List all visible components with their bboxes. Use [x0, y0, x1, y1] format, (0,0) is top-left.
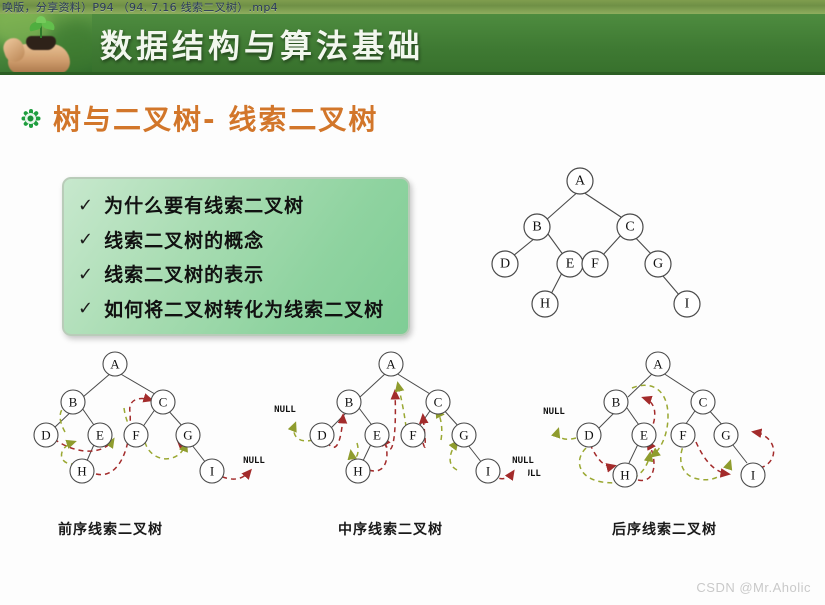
- svg-text:C: C: [699, 395, 708, 410]
- svg-text:F: F: [409, 428, 416, 443]
- list-item: ✓ 线索二叉树的概念: [78, 226, 394, 253]
- svg-text:H: H: [77, 464, 86, 479]
- page-title: 数据结构与算法基础: [100, 21, 424, 67]
- svg-text:C: C: [625, 220, 634, 235]
- list-item-label: 线索二叉树的概念: [104, 226, 264, 253]
- svg-text:D: D: [317, 428, 326, 443]
- slide-header-banner: 数据结构与算法基础: [0, 14, 825, 75]
- list-item: ✓ 如何将二叉树转化为线索二叉树: [78, 295, 394, 322]
- svg-text:E: E: [96, 428, 104, 443]
- svg-text:D: D: [41, 428, 50, 443]
- watermark: CSDN @Mr.Aholic: [696, 580, 811, 595]
- svg-text:C: C: [159, 395, 168, 410]
- list-item: ✓ 为什么要有线索二叉树: [78, 191, 394, 218]
- slide-canvas: 数据结构与算法基础 树与二叉树- 线索二叉树 ✓ 为什么要有线索二叉树 ✓ 线索…: [0, 14, 825, 605]
- svg-text:NULL: NULL: [528, 469, 541, 479]
- svg-text:G: G: [721, 428, 730, 443]
- svg-text:H: H: [620, 468, 629, 483]
- banner-divider: [0, 72, 825, 75]
- svg-text:D: D: [500, 257, 510, 272]
- figure-caption: 中序线索二叉树: [338, 519, 443, 539]
- svg-text:A: A: [653, 357, 663, 372]
- svg-text:B: B: [69, 395, 78, 410]
- svg-text:A: A: [110, 357, 120, 372]
- svg-text:I: I: [685, 297, 690, 312]
- svg-text:H: H: [353, 464, 362, 479]
- svg-text:E: E: [640, 428, 648, 443]
- svg-text:B: B: [612, 395, 621, 410]
- svg-text:C: C: [434, 395, 443, 410]
- section-subtitle: 树与二叉树- 线索二叉树: [20, 98, 378, 138]
- list-item: ✓ 线索二叉树的表示: [78, 260, 394, 287]
- figure-caption: 后序线索二叉树: [612, 519, 717, 539]
- svg-text:F: F: [132, 428, 139, 443]
- video-title-bar: 唤版，分享资料）P94 （94. 7.16 线索二叉树）.mp4: [0, 0, 825, 14]
- svg-text:E: E: [566, 257, 575, 272]
- svg-text:B: B: [345, 395, 354, 410]
- seedling-in-hand-photo: [0, 14, 92, 75]
- check-icon: ✓: [78, 196, 93, 214]
- check-icon: ✓: [78, 299, 93, 317]
- svg-text:E: E: [373, 428, 381, 443]
- svg-text:A: A: [575, 174, 586, 189]
- svg-text:NULL: NULL: [274, 405, 296, 415]
- list-item-label: 线索二叉树的表示: [104, 260, 264, 287]
- svg-text:NULL: NULL: [543, 407, 565, 417]
- svg-text:I: I: [751, 468, 755, 483]
- figure-caption: 前序线索二叉树: [58, 519, 163, 539]
- section-subtitle-label: 树与二叉树- 线索二叉树: [53, 98, 378, 138]
- binary-tree-diagram: ABC DEF GHI: [480, 164, 730, 329]
- svg-text:D: D: [584, 428, 593, 443]
- postorder-threaded-tree-diagram: ABC DEF GHI NULL NULL: [528, 344, 818, 504]
- svg-text:G: G: [459, 428, 468, 443]
- preorder-threaded-tree-diagram: ABC DEF GHI NULL: [18, 344, 283, 504]
- svg-text:A: A: [386, 357, 396, 372]
- list-item-label: 为什么要有线索二叉树: [104, 191, 304, 218]
- svg-text:I: I: [210, 464, 214, 479]
- svg-text:H: H: [540, 297, 550, 312]
- list-item-label: 如何将二叉树转化为线索二叉树: [104, 295, 384, 322]
- video-filename: 唤版，分享资料）P94 （94. 7.16 线索二叉树）.mp4: [2, 0, 278, 14]
- svg-text:I: I: [486, 464, 490, 479]
- check-icon: ✓: [78, 265, 93, 283]
- svg-text:G: G: [183, 428, 192, 443]
- topics-box: ✓ 为什么要有线索二叉树 ✓ 线索二叉树的概念 ✓ 线索二叉树的表示 ✓ 如何将…: [62, 177, 410, 336]
- svg-text:NULL: NULL: [243, 456, 265, 466]
- svg-text:F: F: [591, 257, 599, 272]
- svg-text:B: B: [532, 220, 541, 235]
- svg-text:G: G: [653, 257, 663, 272]
- svg-text:F: F: [679, 428, 686, 443]
- inorder-threaded-tree-diagram: ABC DEF GHI NULL NULL: [265, 344, 550, 504]
- flower-icon: [20, 108, 41, 129]
- check-icon: ✓: [78, 230, 93, 248]
